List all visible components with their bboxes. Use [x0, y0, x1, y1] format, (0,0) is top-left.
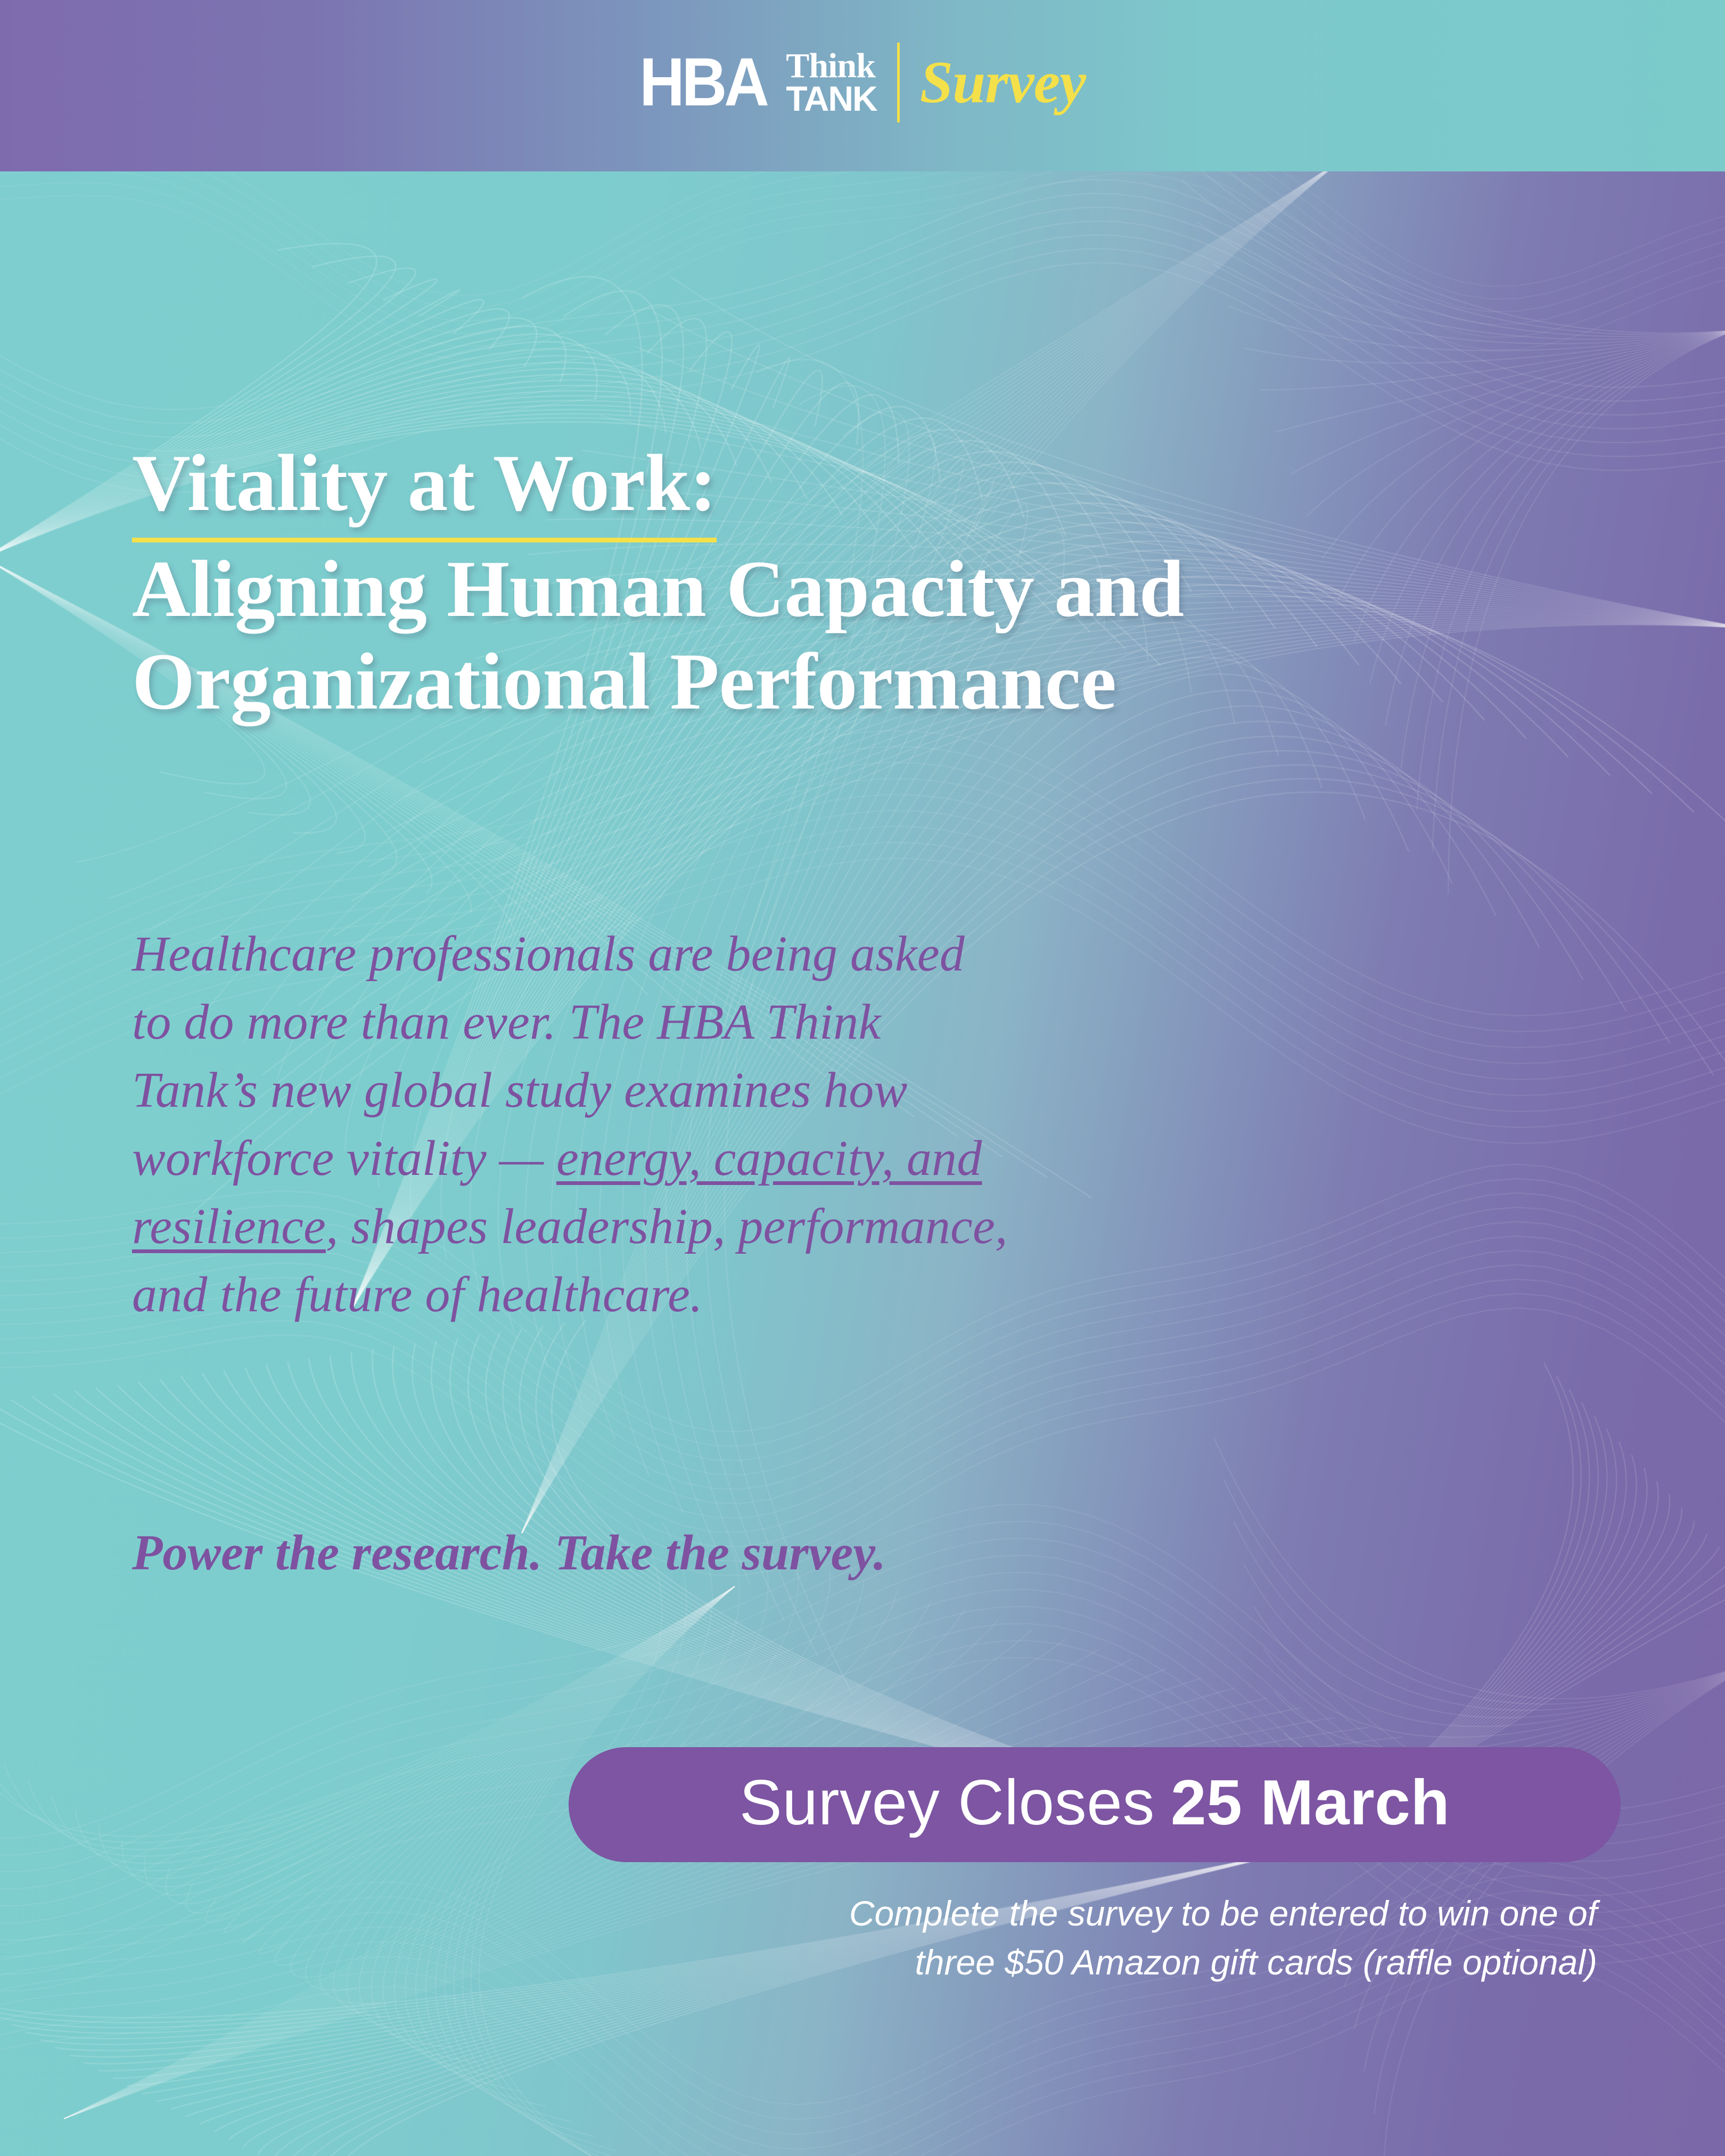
survey-closes-label: Survey Closes — [740, 1771, 1155, 1834]
logo-think-tank-text: Think TANK — [786, 50, 876, 114]
survey-closes-badge[interactable]: Survey Closes 25 March — [569, 1747, 1621, 1862]
body-text-pre: Healthcare professionals are being asked — [132, 926, 965, 982]
headline-row-1: Vitality at Work: — [132, 437, 1633, 542]
poster-root: HBA Think TANK Survey Vitality at Work: … — [0, 0, 1725, 2156]
footnote-line-1: Complete the survey to be entered to win… — [569, 1889, 1597, 1938]
logo-hba-text: HBA — [639, 48, 767, 117]
body-line: and the future of healthcare. — [132, 1261, 1357, 1329]
logo-survey-word: Survey — [920, 53, 1086, 112]
body-line: Tank’s new global study examines how — [132, 1056, 1357, 1124]
body-text-pre: Tank’s new global study examines how — [132, 1063, 907, 1118]
body-text-pre: workforce vitality — — [132, 1131, 556, 1186]
footnote-line-2: three $50 Amazon gift cards (raffle opti… — [569, 1938, 1597, 1987]
body-text-pre: to do more than ever. The HBA Think — [132, 994, 881, 1050]
body-line: workforce vitality — energy, capacity, a… — [132, 1124, 1357, 1192]
body-text-underlined: resilience — [132, 1199, 326, 1254]
body-line: to do more than ever. The HBA Think — [132, 988, 1357, 1056]
headline-line-2: Aligning Human Capacity and — [132, 542, 1633, 635]
survey-closes-date: 25 March — [1171, 1771, 1450, 1834]
body-line: resilience, shapes leadership, performan… — [132, 1192, 1357, 1261]
body-text-pre: and the future of healthcare. — [132, 1267, 703, 1322]
raffle-footnote: Complete the survey to be entered to win… — [569, 1889, 1621, 1987]
header-band: HBA Think TANK Survey — [0, 0, 1725, 171]
logo-lockup: HBA Think TANK Survey — [639, 37, 1086, 128]
call-to-action-text: Power the research. Take the survey. — [132, 1526, 886, 1581]
logo-think-word: Think — [786, 50, 876, 83]
body-text-post: , shapes leadership, performance, — [326, 1199, 1008, 1254]
page-title: Vitality at Work: Aligning Human Capacit… — [132, 437, 1633, 728]
headline-line-1: Vitality at Work: — [132, 437, 717, 542]
body-text-underlined: energy, capacity, and — [556, 1131, 982, 1186]
body-paragraph: Healthcare professionals are being asked… — [132, 920, 1357, 1329]
logo-divider-line — [897, 43, 900, 122]
logo-tank-word: TANK — [786, 83, 876, 115]
headline-line-3: Organizational Performance — [132, 635, 1633, 728]
body-line: Healthcare professionals are being asked — [132, 920, 1357, 988]
